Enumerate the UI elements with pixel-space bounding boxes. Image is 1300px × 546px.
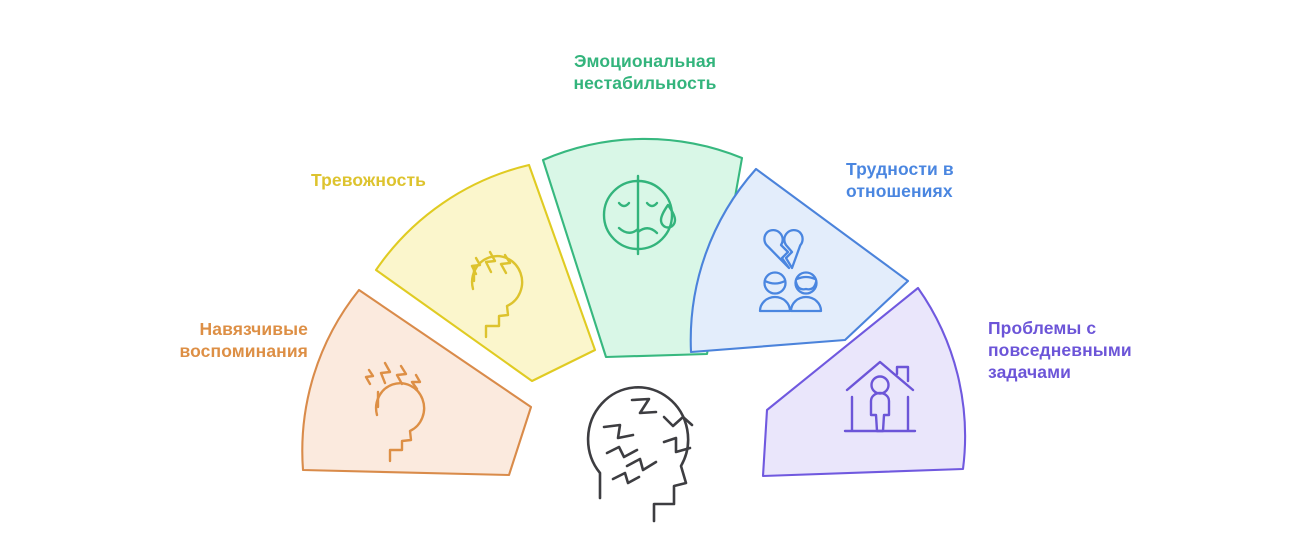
stressed-head-icon	[588, 387, 692, 521]
segment-label-emotional: Эмоциональная нестабильность	[540, 50, 750, 94]
segment-label-relationships: Трудности в отношениях	[846, 158, 1046, 202]
segment-label-anxiety: Тревожность	[226, 169, 426, 191]
segment-label-daily: Проблемы с повседневными задачами	[988, 317, 1218, 384]
segment-label-intrusive: Навязчивые воспоминания	[96, 318, 308, 362]
infographic-fan-diagram: Эмоциональная нестабильность Тревожность…	[0, 0, 1300, 546]
